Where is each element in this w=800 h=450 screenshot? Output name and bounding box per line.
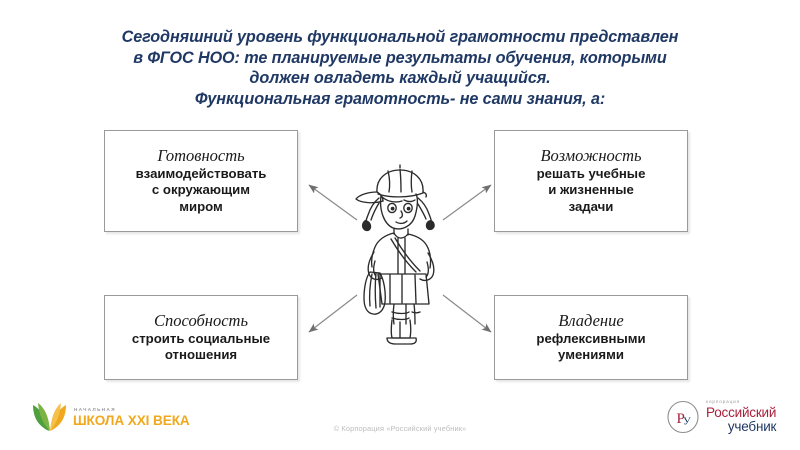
logo-rossiyskiy-uchebnik: Р У корпорация Российский учебник bbox=[666, 396, 776, 438]
title-line-1: Сегодняшний уровень функциональной грамо… bbox=[50, 27, 750, 48]
monogram-icon: Р У bbox=[666, 400, 700, 434]
logo-right-line1: Российский bbox=[706, 406, 776, 420]
concept-body: строить социальные отношения bbox=[132, 331, 270, 364]
logo-right-wordmark: корпорация Российский учебник bbox=[706, 400, 776, 434]
concept-body-line: задачи bbox=[537, 199, 646, 216]
concept-diagram: Готовность взаимодействовать с окружающи… bbox=[0, 110, 800, 395]
logo-left-small-text: НАЧАЛЬНАЯ bbox=[74, 408, 190, 413]
concept-body-line: и жизненные bbox=[537, 182, 646, 199]
title-line-2: в ФГОС НОО: те планируемые результаты об… bbox=[50, 48, 750, 69]
concept-box-bottom-right[interactable]: Владение рефлексивными умениями bbox=[494, 295, 688, 380]
concept-box-bottom-left[interactable]: Способность строить социальные отношения bbox=[104, 295, 298, 380]
logo-shkola-xxi-veka: НАЧАЛЬНАЯ ШКОЛА XXI ВЕКА bbox=[30, 398, 190, 438]
title-line-3: должен овладеть каждый учащийся. bbox=[50, 68, 750, 89]
concept-body-line: строить социальные bbox=[132, 331, 270, 348]
concept-heading: Готовность bbox=[157, 147, 244, 165]
concept-body: решать учебные и жизненные задачи bbox=[537, 166, 646, 216]
concept-body: рефлексивными умениями bbox=[536, 331, 645, 364]
concept-body-line: рефлексивными bbox=[536, 331, 645, 348]
schoolgirl-icon bbox=[330, 162, 470, 347]
concept-body-line: миром bbox=[136, 199, 267, 216]
title-line-4: Функциональная грамотность- не сами знан… bbox=[50, 89, 750, 110]
concept-body-line: взаимодействовать bbox=[136, 166, 267, 183]
logo-right-line2: учебник bbox=[706, 420, 776, 434]
logo-left-main-text: ШКОЛА XXI ВЕКА bbox=[73, 414, 190, 428]
concept-box-top-left[interactable]: Готовность взаимодействовать с окружающи… bbox=[104, 130, 298, 232]
concept-heading: Владение bbox=[558, 312, 623, 330]
concept-body: взаимодействовать с окружающим миром bbox=[136, 166, 267, 216]
leaf-wing-icon bbox=[30, 400, 70, 436]
concept-body-line: решать учебные bbox=[537, 166, 646, 183]
logo-left-wordmark: НАЧАЛЬНАЯ ШКОЛА XXI ВЕКА bbox=[73, 408, 190, 428]
concept-heading: Способность bbox=[154, 312, 248, 330]
svg-text:У: У bbox=[683, 416, 691, 428]
concept-body-line: с окружающим bbox=[136, 182, 267, 199]
slide-title: Сегодняшний уровень функциональной грамо… bbox=[50, 27, 750, 109]
concept-body-line: умениями bbox=[536, 347, 645, 364]
concept-box-top-right[interactable]: Возможность решать учебные и жизненные з… bbox=[494, 130, 688, 232]
concept-body-line: отношения bbox=[132, 347, 270, 364]
concept-heading: Возможность bbox=[540, 147, 641, 165]
